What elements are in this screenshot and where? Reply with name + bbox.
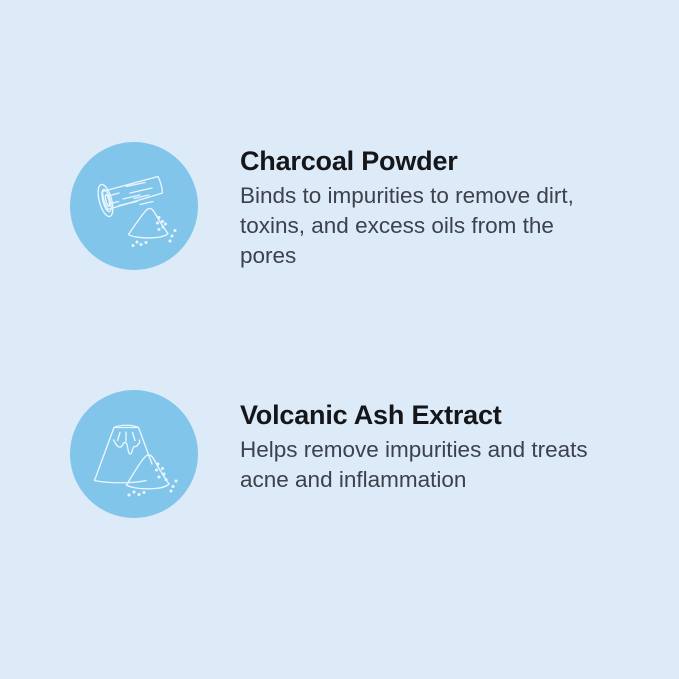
icon-badge-volcanic-ash <box>70 390 198 518</box>
feature-text-charcoal: Charcoal Powder Binds to impurities to r… <box>240 142 679 271</box>
charcoal-log-powder-icon <box>82 154 186 258</box>
feature-title: Volcanic Ash Extract <box>240 400 613 430</box>
feature-description: Helps remove impurities and treats acne … <box>240 435 590 495</box>
feature-item-charcoal: Charcoal Powder Binds to impurities to r… <box>0 142 679 271</box>
volcano-ash-powder-icon <box>82 402 186 506</box>
feature-title: Charcoal Powder <box>240 146 613 176</box>
feature-item-volcanic-ash: Volcanic Ash Extract Helps remove impuri… <box>0 390 679 518</box>
ingredient-benefits-panel: Charcoal Powder Binds to impurities to r… <box>0 0 679 679</box>
icon-badge-charcoal <box>70 142 198 270</box>
feature-text-volcanic-ash: Volcanic Ash Extract Helps remove impuri… <box>240 390 679 495</box>
feature-description: Binds to impurities to remove dirt, toxi… <box>240 181 590 271</box>
